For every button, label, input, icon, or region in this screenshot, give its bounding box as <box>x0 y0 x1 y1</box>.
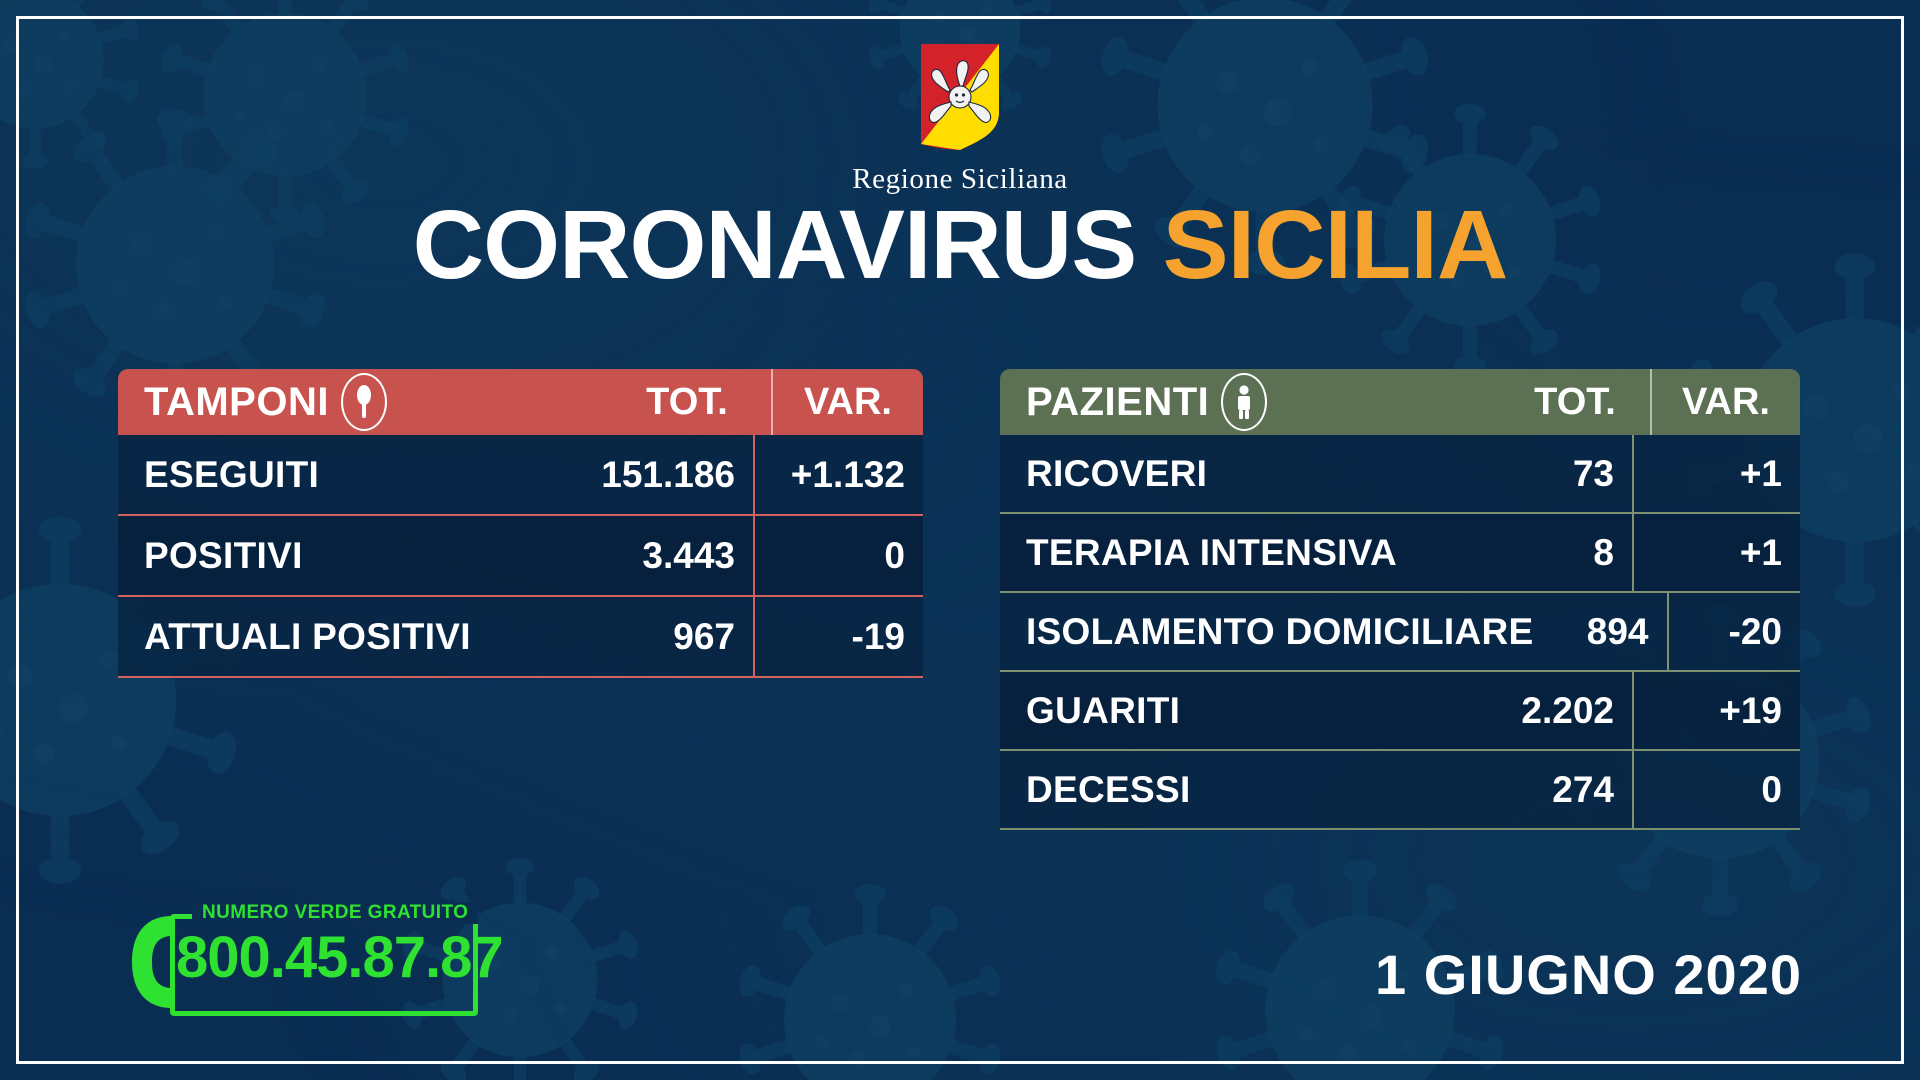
person-icon <box>1221 373 1267 431</box>
crest-svg <box>917 40 1003 152</box>
region-branding: Regione Siciliana <box>0 40 1920 196</box>
row-variation: 0 <box>1632 751 1800 828</box>
table-tamponi-title: TAMPONI <box>144 380 329 425</box>
phone-glyph <box>122 910 178 1014</box>
row-label: ATTUALI POSITIVI <box>118 616 567 658</box>
table-pazienti-col-var: VAR. <box>1650 369 1800 435</box>
row-label: GUARITI <box>1000 690 1464 732</box>
row-variation: -19 <box>753 597 923 676</box>
hotline-label: NUMERO VERDE GRATUITO <box>192 902 478 924</box>
row-label: DECESSI <box>1000 769 1464 811</box>
row-total: 3.443 <box>567 516 753 595</box>
table-row: TERAPIA INTENSIVA 8 +1 <box>1000 512 1800 591</box>
table-pazienti-rows: RICOVERI 73 +1 TERAPIA INTENSIVA 8 +1 IS… <box>1000 435 1800 830</box>
row-label: ESEGUITI <box>118 454 567 496</box>
phone-handset-icon <box>122 910 178 1019</box>
hotline-block[interactable]: NUMERO VERDE GRATUITO 800.45.87.87 <box>118 900 478 1020</box>
table-row: ISOLAMENTO DOMICILIARE 894 -20 <box>1000 591 1800 670</box>
row-total: 8 <box>1464 514 1632 591</box>
row-total: 151.186 <box>567 435 753 514</box>
row-total: 967 <box>567 597 753 676</box>
swab-glyph <box>355 384 373 420</box>
table-pazienti-col-total: TOT. <box>1500 369 1650 435</box>
row-variation: -20 <box>1667 593 1800 670</box>
table-tamponi: TAMPONI TOT. VAR. ESEGUITI 151.186 +1.13… <box>118 369 923 678</box>
table-tamponi-col-var: VAR. <box>771 369 923 435</box>
row-label: RICOVERI <box>1000 453 1464 495</box>
row-total: 274 <box>1464 751 1632 828</box>
table-tamponi-header: TAMPONI TOT. VAR. <box>118 369 923 435</box>
row-variation: 0 <box>753 516 923 595</box>
row-variation: +19 <box>1632 672 1800 749</box>
row-label: POSITIVI <box>118 535 567 577</box>
table-row: RICOVERI 73 +1 <box>1000 435 1800 512</box>
row-variation: +1 <box>1632 435 1800 512</box>
table-pazienti-title-cell: PAZIENTI <box>1000 373 1500 431</box>
title-word-sicilia: SICILIA <box>1163 190 1508 299</box>
row-total: 73 <box>1464 435 1632 512</box>
table-row: ATTUALI POSITIVI 967 -19 <box>118 595 923 676</box>
title-word-coronavirus: CORONAVIRUS <box>413 190 1137 299</box>
row-total: 894 <box>1533 593 1666 670</box>
row-variation: +1 <box>1632 514 1800 591</box>
table-pazienti: PAZIENTI TOT. VAR. RICOVERI 73 +1 <box>1000 369 1800 830</box>
table-row: DECESSI 274 0 <box>1000 749 1800 828</box>
report-date: 1 GIUGNO 2020 <box>1375 942 1802 1007</box>
row-label: ISOLAMENTO DOMICILIARE <box>1000 611 1533 653</box>
sicilian-trinacria-crest-icon <box>917 40 1003 157</box>
table-row: ESEGUITI 151.186 +1.132 <box>118 435 923 514</box>
table-tamponi-rows: ESEGUITI 151.186 +1.132 POSITIVI 3.443 0… <box>118 435 923 678</box>
table-row: GUARITI 2.202 +19 <box>1000 670 1800 749</box>
table-pazienti-header: PAZIENTI TOT. VAR. <box>1000 369 1800 435</box>
page-title: CORONAVIRUS SICILIA <box>0 196 1920 293</box>
row-total: 2.202 <box>1464 672 1632 749</box>
swab-icon <box>341 373 387 431</box>
table-tamponi-col-total: TOT. <box>603 369 771 435</box>
hotline-number[interactable]: 800.45.87.87 <box>176 924 503 991</box>
table-tamponi-title-cell: TAMPONI <box>118 373 603 431</box>
person-glyph <box>1234 384 1254 420</box>
table-pazienti-title: PAZIENTI <box>1026 380 1209 425</box>
infographic-poster: Regione Siciliana CORONAVIRUS SICILIA TA… <box>0 0 1920 1080</box>
row-label: TERAPIA INTENSIVA <box>1000 532 1464 574</box>
row-variation: +1.132 <box>753 435 923 514</box>
table-row: POSITIVI 3.443 0 <box>118 514 923 595</box>
